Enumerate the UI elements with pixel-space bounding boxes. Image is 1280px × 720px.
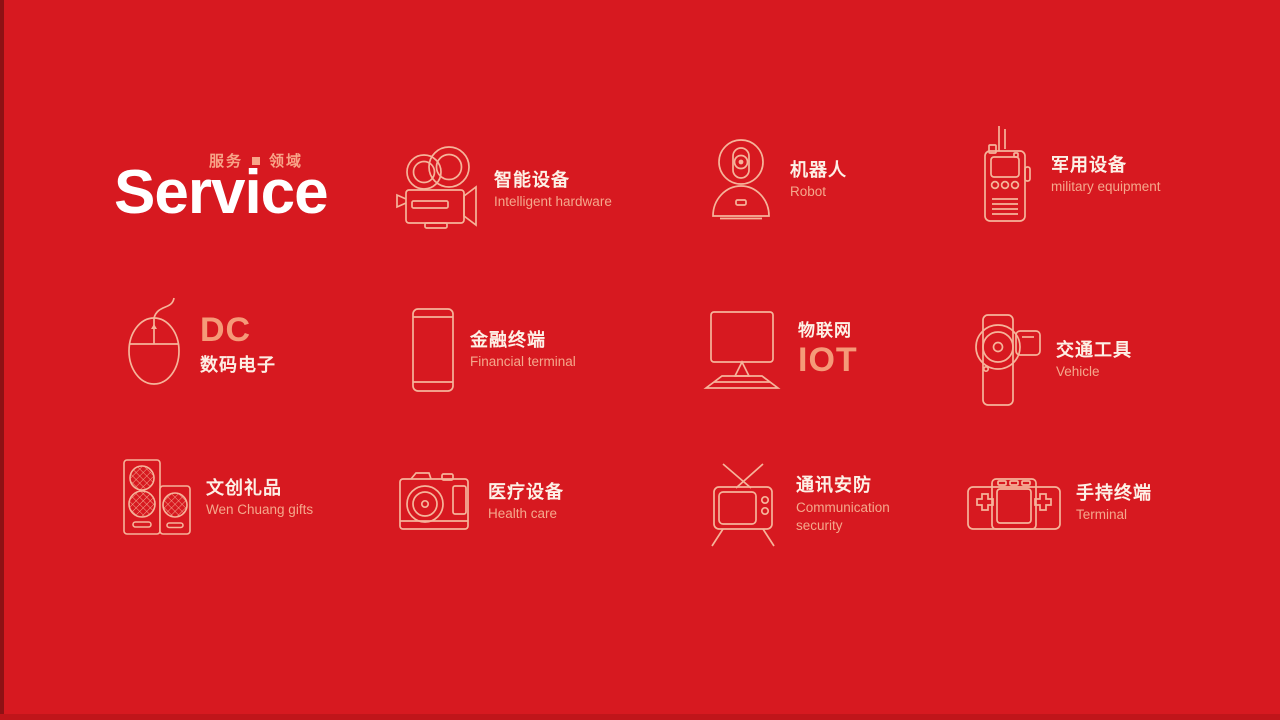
service-grid: 智能设备 Intelligent hardware 机器人 Robot: [0, 0, 1280, 720]
service-item-communication-security[interactable]: 通讯安防 Communication security: [706, 462, 936, 548]
service-item-title-cn: 通讯安防: [796, 475, 888, 496]
service-item-title-cn: 文创礼品: [206, 478, 313, 499]
service-item-labels: 手持终端 Terminal: [1076, 483, 1152, 522]
service-item-title-en: Wen Chuang gifts: [206, 502, 313, 518]
service-item-title-en: Health care: [488, 506, 564, 522]
robot-icon: [706, 138, 776, 222]
monitor-icon: [700, 310, 784, 390]
service-item-financial-terminal[interactable]: 金融终端 Financial terminal: [410, 305, 660, 395]
handheld-console-icon: [966, 475, 1062, 531]
camcorder-icon: [968, 313, 1042, 407]
service-item-title-cn: 机器人: [790, 160, 847, 181]
service-item-military-equipment[interactable]: 军用设备 military equipment: [975, 122, 1235, 228]
service-item-title-en: Financial terminal: [470, 354, 576, 370]
service-item-intelligent-hardware[interactable]: 智能设备 Intelligent hardware: [396, 145, 646, 235]
service-item-title-en: IOT: [798, 343, 858, 379]
speakers-icon: [122, 458, 192, 538]
service-item-title-en: Intelligent hardware: [494, 194, 612, 210]
service-item-labels: 医疗设备 Health care: [488, 482, 564, 521]
service-item-title-en: Robot: [790, 184, 847, 200]
service-item-title-en: military equipment: [1051, 179, 1161, 195]
service-item-title-cn: 医疗设备: [488, 482, 564, 503]
service-item-labels: 文创礼品 Wen Chuang gifts: [206, 478, 313, 517]
computer-mouse-icon: [128, 296, 186, 392]
service-item-vehicle[interactable]: 交通工具 Vehicle: [968, 312, 1208, 408]
service-item-title-cn: 数码电子: [200, 355, 276, 376]
service-item-title-en: Vehicle: [1056, 364, 1132, 380]
movie-camera-icon: [396, 146, 480, 234]
slide-canvas: 服务 领域 Service: [0, 0, 1280, 720]
service-item-title-cn: 军用设备: [1051, 155, 1161, 176]
service-item-title-en: Communication security: [796, 499, 888, 535]
service-item-labels: 通讯安防 Communication security: [796, 475, 888, 535]
service-item-labels: DC 数码电子: [200, 313, 276, 375]
service-item-labels: 军用设备 military equipment: [1051, 155, 1161, 194]
service-item-iot[interactable]: 物联网 IOT: [700, 308, 940, 392]
service-item-labels: 交通工具 Vehicle: [1056, 340, 1132, 379]
service-item-labels: 智能设备 Intelligent hardware: [494, 170, 612, 209]
service-item-labels: 金融终端 Financial terminal: [470, 330, 576, 369]
service-item-title-cn: 交通工具: [1056, 340, 1132, 361]
service-item-labels: 物联网 IOT: [798, 321, 858, 378]
service-item-wen-chuang-gifts[interactable]: 文创礼品 Wen Chuang gifts: [122, 458, 382, 538]
service-item-title-en: Terminal: [1076, 507, 1152, 523]
service-item-health-care[interactable]: 医疗设备 Health care: [398, 465, 648, 539]
service-item-digital-consumer[interactable]: DC 数码电子: [128, 296, 378, 392]
service-item-terminal[interactable]: 手持终端 Terminal: [966, 472, 1206, 534]
smartphone-icon: [410, 307, 456, 393]
service-item-title-en: DC: [200, 313, 276, 349]
walkie-talkie-icon: [975, 123, 1037, 227]
retro-tv-icon: [706, 462, 782, 548]
photo-camera-icon: [398, 466, 474, 538]
service-item-title-cn: 物联网: [798, 321, 858, 341]
service-item-robot[interactable]: 机器人 Robot: [706, 138, 926, 222]
service-item-labels: 机器人 Robot: [790, 160, 847, 199]
service-item-title-cn: 智能设备: [494, 170, 612, 191]
service-item-title-cn: 手持终端: [1076, 483, 1152, 504]
service-item-title-cn: 金融终端: [470, 330, 576, 351]
